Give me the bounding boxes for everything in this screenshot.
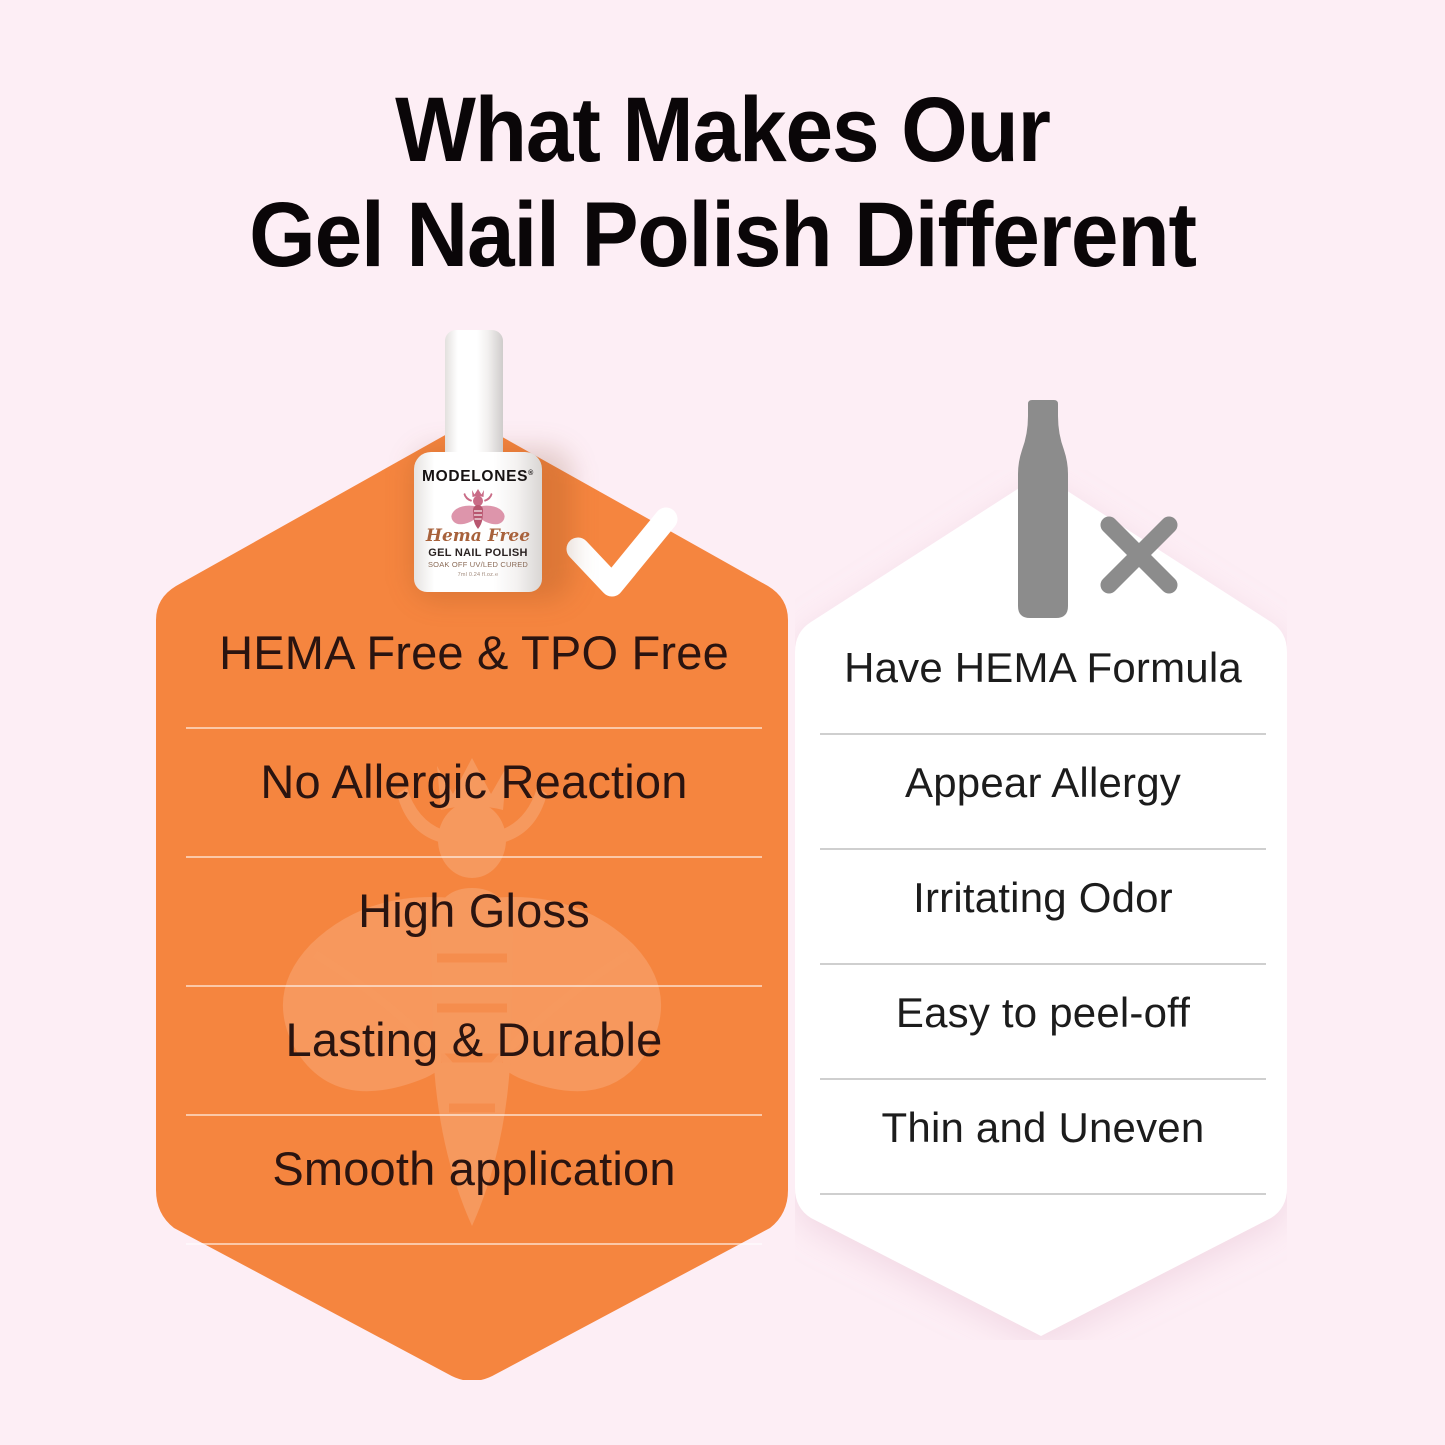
pro-item-label: High Gloss xyxy=(186,858,762,963)
pro-list-item: Lasting & Durable xyxy=(186,987,762,1114)
pro-list-item: High Gloss xyxy=(186,858,762,985)
con-item-label: Easy to peel-off xyxy=(820,965,1266,1060)
con-list-item: Appear Allergy xyxy=(820,735,1266,848)
brand-text: MODELONES xyxy=(422,468,528,485)
comparison-stage: HEMA Free & TPO Free No Allergic Reactio… xyxy=(0,0,1445,1445)
con-item-label: Have HEMA Formula xyxy=(820,620,1266,715)
pro-list-item: HEMA Free & TPO Free xyxy=(186,600,762,727)
con-list-item: Have HEMA Formula xyxy=(820,620,1266,733)
pro-item-label: HEMA Free & TPO Free xyxy=(186,600,762,705)
pro-list-item: No Allergic Reaction xyxy=(186,729,762,856)
pro-item-label: No Allergic Reaction xyxy=(186,729,762,834)
grey-bottle-icon xyxy=(998,400,1088,622)
pro-item-label: Lasting & Durable xyxy=(186,987,762,1092)
pro-item-label: Smooth application xyxy=(186,1116,762,1221)
con-list-item: Irritating Odor xyxy=(820,850,1266,963)
con-item-label: Irritating Odor xyxy=(820,850,1266,945)
con-list-divider xyxy=(820,1193,1266,1195)
con-item-label: Thin and Uneven xyxy=(820,1080,1266,1175)
product-bottle: MODELONES® Hema xyxy=(404,330,574,598)
cross-icon xyxy=(1096,512,1182,598)
con-feature-list: Have HEMA Formula Appear Allergy Irritat… xyxy=(820,620,1266,1195)
pro-list-item: Smooth application xyxy=(186,1116,762,1243)
product-cure-info: SOAK OFF UV/LED CURED xyxy=(414,560,542,569)
pro-list-divider xyxy=(186,1243,762,1245)
con-list-item: Thin and Uneven xyxy=(820,1080,1266,1193)
con-item-label: Appear Allergy xyxy=(820,735,1266,830)
bottle-body: MODELONES® Hema xyxy=(414,452,542,592)
product-volume: 7ml 0.24 fl.oz.℮ xyxy=(414,572,542,578)
brand-name: MODELONES® xyxy=(414,468,542,486)
check-icon xyxy=(566,505,678,605)
con-list-item: Easy to peel-off xyxy=(820,965,1266,1078)
bottle-cap xyxy=(445,330,503,466)
trademark-symbol: ® xyxy=(528,470,534,477)
product-type: GEL NAIL POLISH xyxy=(414,547,542,559)
bee-logo-icon xyxy=(449,489,507,529)
pro-feature-list: HEMA Free & TPO Free No Allergic Reactio… xyxy=(186,600,762,1245)
hema-free-script: Hema Free xyxy=(414,526,542,546)
